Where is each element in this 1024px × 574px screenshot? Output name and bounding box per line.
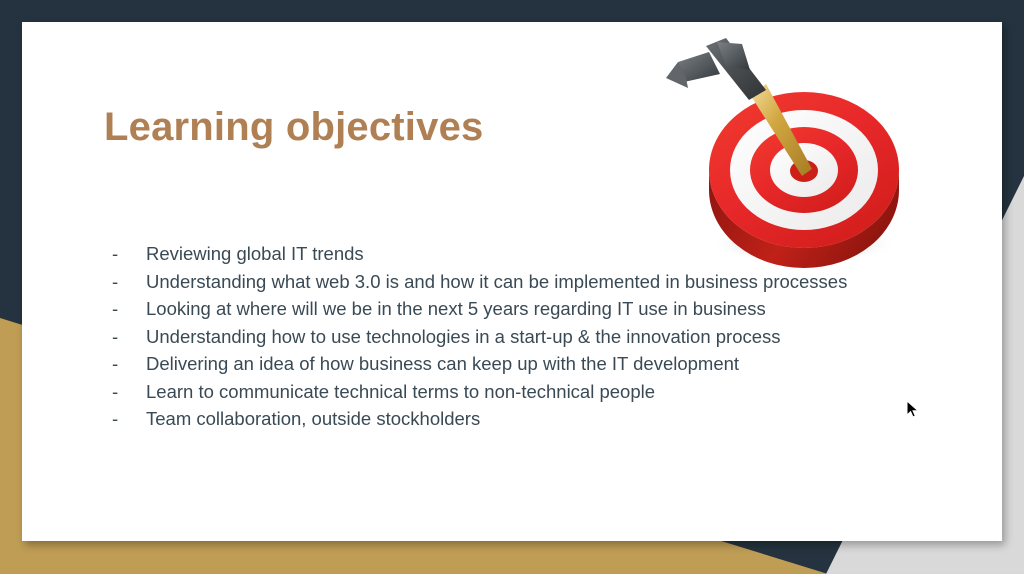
bullet-text: Understanding how to use technologies in… — [146, 323, 912, 351]
target-dartboard-image — [654, 38, 914, 273]
bullet-text: Looking at where will we be in the next … — [146, 295, 912, 323]
bullet-marker: - — [112, 350, 146, 378]
bullet-marker: - — [112, 378, 146, 406]
list-item: - Delivering an idea of how business can… — [112, 350, 912, 378]
list-item: - Team collaboration, outside stockholde… — [112, 405, 912, 433]
list-item: - Understanding how to use technologies … — [112, 323, 912, 351]
bullet-text: Learn to communicate technical terms to … — [146, 378, 912, 406]
mouse-cursor — [906, 400, 920, 420]
bullet-marker: - — [112, 323, 146, 351]
list-item: - Looking at where will we be in the nex… — [112, 295, 912, 323]
list-item: - Learn to communicate technical terms t… — [112, 378, 912, 406]
slide-canvas: Learning objectives - Reviewing global I… — [22, 22, 1002, 541]
page-title: Learning objectives — [104, 105, 483, 150]
bullet-marker: - — [112, 268, 146, 296]
bullet-marker: - — [112, 405, 146, 433]
bullet-marker: - — [112, 295, 146, 323]
bullet-marker: - — [112, 240, 146, 268]
bullet-text: Delivering an idea of how business can k… — [146, 350, 912, 378]
presentation-viewport: Learning objectives - Reviewing global I… — [0, 0, 1024, 574]
bullet-text: Team collaboration, outside stockholders — [146, 405, 912, 433]
